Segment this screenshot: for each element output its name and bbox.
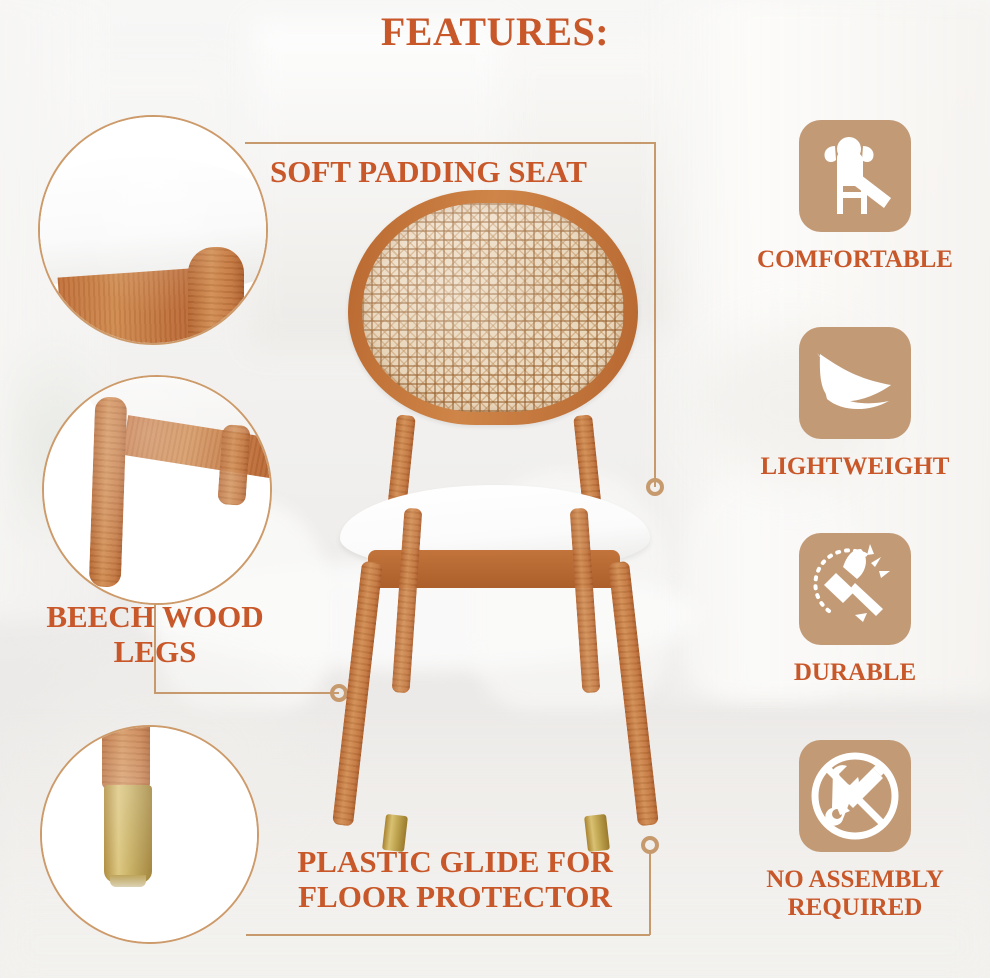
product-chair-image bbox=[330, 190, 670, 870]
feature-label-durable: DURABLE bbox=[750, 659, 960, 687]
feature-no-assembly: NO ASSEMBLY REQUIRED bbox=[750, 740, 960, 921]
feature-comfortable: COMFORTABLE bbox=[750, 120, 960, 274]
feature-label-lightweight: LIGHTWEIGHT bbox=[750, 453, 960, 481]
person-relaxing-in-chair-icon bbox=[799, 120, 911, 232]
callout-plastic-glide bbox=[40, 725, 259, 944]
no-tools-icon bbox=[799, 740, 911, 852]
feature-label-comfortable: COMFORTABLE bbox=[750, 246, 960, 274]
callout-soft-padding-seat bbox=[38, 115, 268, 345]
chair-leg-front-right bbox=[608, 561, 659, 827]
callout-label-glide-line2: FLOOR PROTECTOR bbox=[260, 880, 650, 915]
callout-label-soft-padding-seat: SOFT PADDING SEAT bbox=[270, 155, 630, 190]
connector-line-glide-horizontal bbox=[246, 934, 650, 936]
page-title: FEATURES: bbox=[0, 8, 990, 55]
feature-label-no-assembly-line1: NO ASSEMBLY bbox=[750, 866, 960, 894]
durable-badge bbox=[799, 533, 911, 645]
comfortable-badge bbox=[799, 120, 911, 232]
hammer-strike-icon bbox=[799, 533, 911, 645]
chair-rattan-back bbox=[348, 190, 638, 425]
infographic-canvas: FEATURES: bbox=[0, 0, 990, 978]
callout-label-beech-line1: BEECH WOOD bbox=[10, 600, 300, 635]
lightweight-badge bbox=[799, 327, 911, 439]
feature-label-no-assembly: NO ASSEMBLY REQUIRED bbox=[750, 866, 960, 921]
feather-icon bbox=[799, 327, 911, 439]
callout-label-plastic-glide: PLASTIC GLIDE FOR FLOOR PROTECTOR bbox=[260, 845, 650, 914]
chair-leg-front-left bbox=[332, 561, 383, 827]
callout-label-beech-line2: LEGS bbox=[10, 635, 300, 670]
callout-label-glide-line1: PLASTIC GLIDE FOR bbox=[260, 845, 650, 880]
callout-label-beech-wood-legs: BEECH WOOD LEGS bbox=[10, 600, 300, 669]
feature-lightweight: LIGHTWEIGHT bbox=[750, 327, 960, 481]
feature-durable: DURABLE bbox=[750, 533, 960, 687]
connector-line-beech-horizontal bbox=[154, 692, 339, 694]
no-assembly-badge bbox=[799, 740, 911, 852]
connector-line-soft-padding-horizontal bbox=[245, 142, 655, 144]
feature-label-no-assembly-line2: REQUIRED bbox=[750, 894, 960, 922]
callout-beech-wood-legs bbox=[42, 375, 272, 605]
